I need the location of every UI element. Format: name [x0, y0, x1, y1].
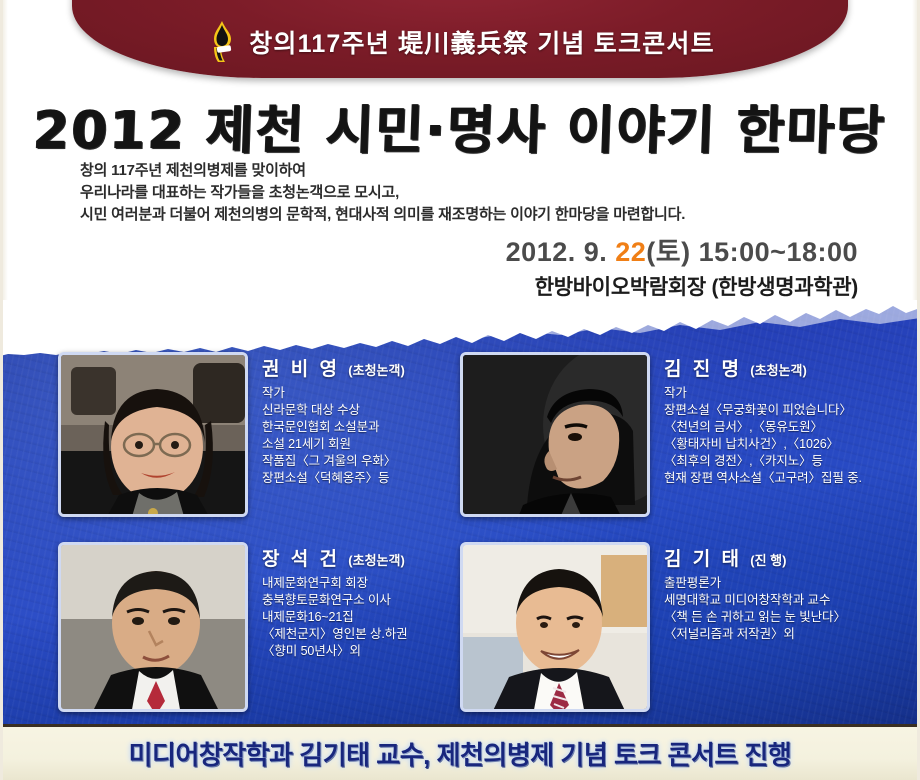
speaker-role: (초청논객) — [348, 553, 405, 568]
header-banner: 창의117주년 堤川義兵祭 기념 토크콘서트 — [72, 0, 848, 78]
bio-line: 충북향토문화연구소 이사 — [262, 592, 408, 609]
speaker-info: 장 석 건 (초청논객) 내제문화연구회 회장 충북향토문화연구소 이사 내제문… — [262, 542, 408, 712]
bio-line: 〈최후의 경전〉,〈카지노〉등 — [664, 453, 862, 470]
event-datetime: 2012. 9. 22(토) 15:00~18:00 — [506, 230, 858, 269]
speaker-bio: 작가 장편소설〈무궁화꽃이 피었습니다〉 〈천년의 금서〉,〈몽유도원〉 〈황태… — [664, 385, 862, 487]
speaker-role: (초청논객) — [348, 363, 405, 378]
speaker-name-text: 김 기 태 — [664, 549, 742, 570]
description-line-3: 시민 여러분과 더불어 제천의병의 문학적, 현대사적 의미를 재조명하는 이야… — [80, 204, 685, 226]
bio-line: 작품집〈그 겨울의 우화〉 — [262, 453, 405, 470]
poster-top-section: 창의117주년 堤川義兵祭 기념 토크콘서트 2012 제천 시민·명사 이야기… — [0, 0, 920, 340]
torch-flame-icon — [205, 20, 239, 64]
speaker-name-text: 김 진 명 — [664, 359, 742, 380]
speaker-card: 김 진 명 (초청논객) 작가 장편소설〈무궁화꽃이 피었습니다〉 〈천년의 금… — [460, 352, 862, 517]
bio-line: 내제문화연구회 회장 — [262, 575, 408, 592]
bio-line: 한국문인협회 소설분과 — [262, 419, 405, 436]
bio-line: 〈황태자비 납치사건〉,〈1026〉 — [664, 436, 862, 453]
speaker-role: (진 행) — [750, 553, 786, 568]
datetime-day: 22 — [615, 237, 646, 267]
event-poster: 창의117주년 堤川義兵祭 기념 토크콘서트 2012 제천 시민·명사 이야기… — [0, 0, 920, 780]
banner-title: 창의117주년 堤川義兵祭 기념 토크콘서트 — [249, 24, 715, 60]
speaker-name: 권 비 영 (초청논객) — [262, 354, 405, 381]
speaker-photo — [460, 352, 650, 517]
bottom-caption-bar: 미디어창작학과 김기태 교수, 제천의병제 기념 토크 콘서트 진행 — [0, 724, 920, 780]
bio-line: 내제문화16~21집 — [262, 609, 408, 626]
speaker-info: 김 진 명 (초청논객) 작가 장편소설〈무궁화꽃이 피었습니다〉 〈천년의 금… — [664, 352, 862, 517]
speaker-name-text: 권 비 영 — [262, 359, 340, 380]
bio-line: 〈저널리즘과 저작권〉외 — [664, 626, 846, 643]
speaker-name: 김 기 태 (진 행) — [664, 544, 846, 571]
speaker-bio: 작가 신라문학 대상 수상 한국문인협회 소설분과 소설 21세기 회원 작품집… — [262, 385, 405, 487]
bio-line: 〈제천군지〉영인본 상.하권 — [262, 626, 408, 643]
speaker-name: 장 석 건 (초청논객) — [262, 544, 408, 571]
description-line-1: 창의 117주년 제천의병제를 맞이하여 — [80, 160, 685, 182]
bio-line: 소설 21세기 회원 — [262, 436, 405, 453]
bio-line: 〈천년의 금서〉,〈몽유도원〉 — [664, 419, 862, 436]
speaker-photo — [58, 352, 248, 517]
speaker-card: 장 석 건 (초청논객) 내제문화연구회 회장 충북향토문화연구소 이사 내제문… — [58, 542, 408, 712]
speaker-name: 김 진 명 (초청논객) — [664, 354, 862, 381]
event-venue: 한방바이오박람회장 (한방생명과학관) — [535, 271, 858, 301]
page-title: 2012 제천 시민·명사 이야기 한마당 — [0, 88, 920, 163]
bio-line: 〈책 든 손 귀하고 읽는 눈 빛난다〉 — [664, 609, 846, 626]
bio-line: 작가 — [664, 385, 862, 402]
speaker-info: 김 기 태 (진 행) 출판평론가 세명대학교 미디어창작학과 교수 〈책 든 … — [664, 542, 846, 712]
datetime-prefix: 2012. 9. — [506, 237, 616, 267]
speaker-info: 권 비 영 (초청논객) 작가 신라문학 대상 수상 한국문인협회 소설분과 소… — [262, 352, 405, 517]
header-banner-content: 창의117주년 堤川義兵祭 기념 토크콘서트 — [72, 20, 848, 64]
datetime-suffix: (토) 15:00~18:00 — [646, 237, 858, 267]
speaker-bio: 내제문화연구회 회장 충북향토문화연구소 이사 내제문화16~21집 〈제천군지… — [262, 575, 408, 660]
bio-line: 신라문학 대상 수상 — [262, 402, 405, 419]
speaker-card: 권 비 영 (초청논객) 작가 신라문학 대상 수상 한국문인협회 소설분과 소… — [58, 352, 405, 517]
speakers-grid: 권 비 영 (초청논객) 작가 신라문학 대상 수상 한국문인협회 소설분과 소… — [0, 300, 920, 724]
bio-line: 작가 — [262, 385, 405, 402]
speaker-card: 김 기 태 (진 행) 출판평론가 세명대학교 미디어창작학과 교수 〈책 든 … — [460, 542, 846, 712]
description-line-2: 우리나라를 대표하는 작가들을 초청논객으로 모시고, — [80, 182, 685, 204]
bio-line: 출판평론가 — [664, 575, 846, 592]
speaker-role: (초청논객) — [750, 363, 807, 378]
speaker-bio: 출판평론가 세명대학교 미디어창작학과 교수 〈책 든 손 귀하고 읽는 눈 빛… — [664, 575, 846, 643]
bio-line: 〈향미 50년사〉외 — [262, 643, 408, 660]
caption-text: 미디어창작학과 김기태 교수, 제천의병제 기념 토크 콘서트 진행 — [129, 735, 792, 772]
speaker-photo — [460, 542, 650, 712]
speaker-photo — [58, 542, 248, 712]
bio-line: 장편소설〈무궁화꽃이 피었습니다〉 — [664, 402, 862, 419]
bio-line: 세명대학교 미디어창작학과 교수 — [664, 592, 846, 609]
description-block: 창의 117주년 제천의병제를 맞이하여 우리나라를 대표하는 작가들을 초청논… — [80, 160, 685, 226]
bio-line: 장편소설〈덕혜옹주〉등 — [262, 470, 405, 487]
speaker-name-text: 장 석 건 — [262, 549, 340, 570]
bio-line: 현재 장편 역사소설〈고구려〉집필 중. — [664, 470, 862, 487]
